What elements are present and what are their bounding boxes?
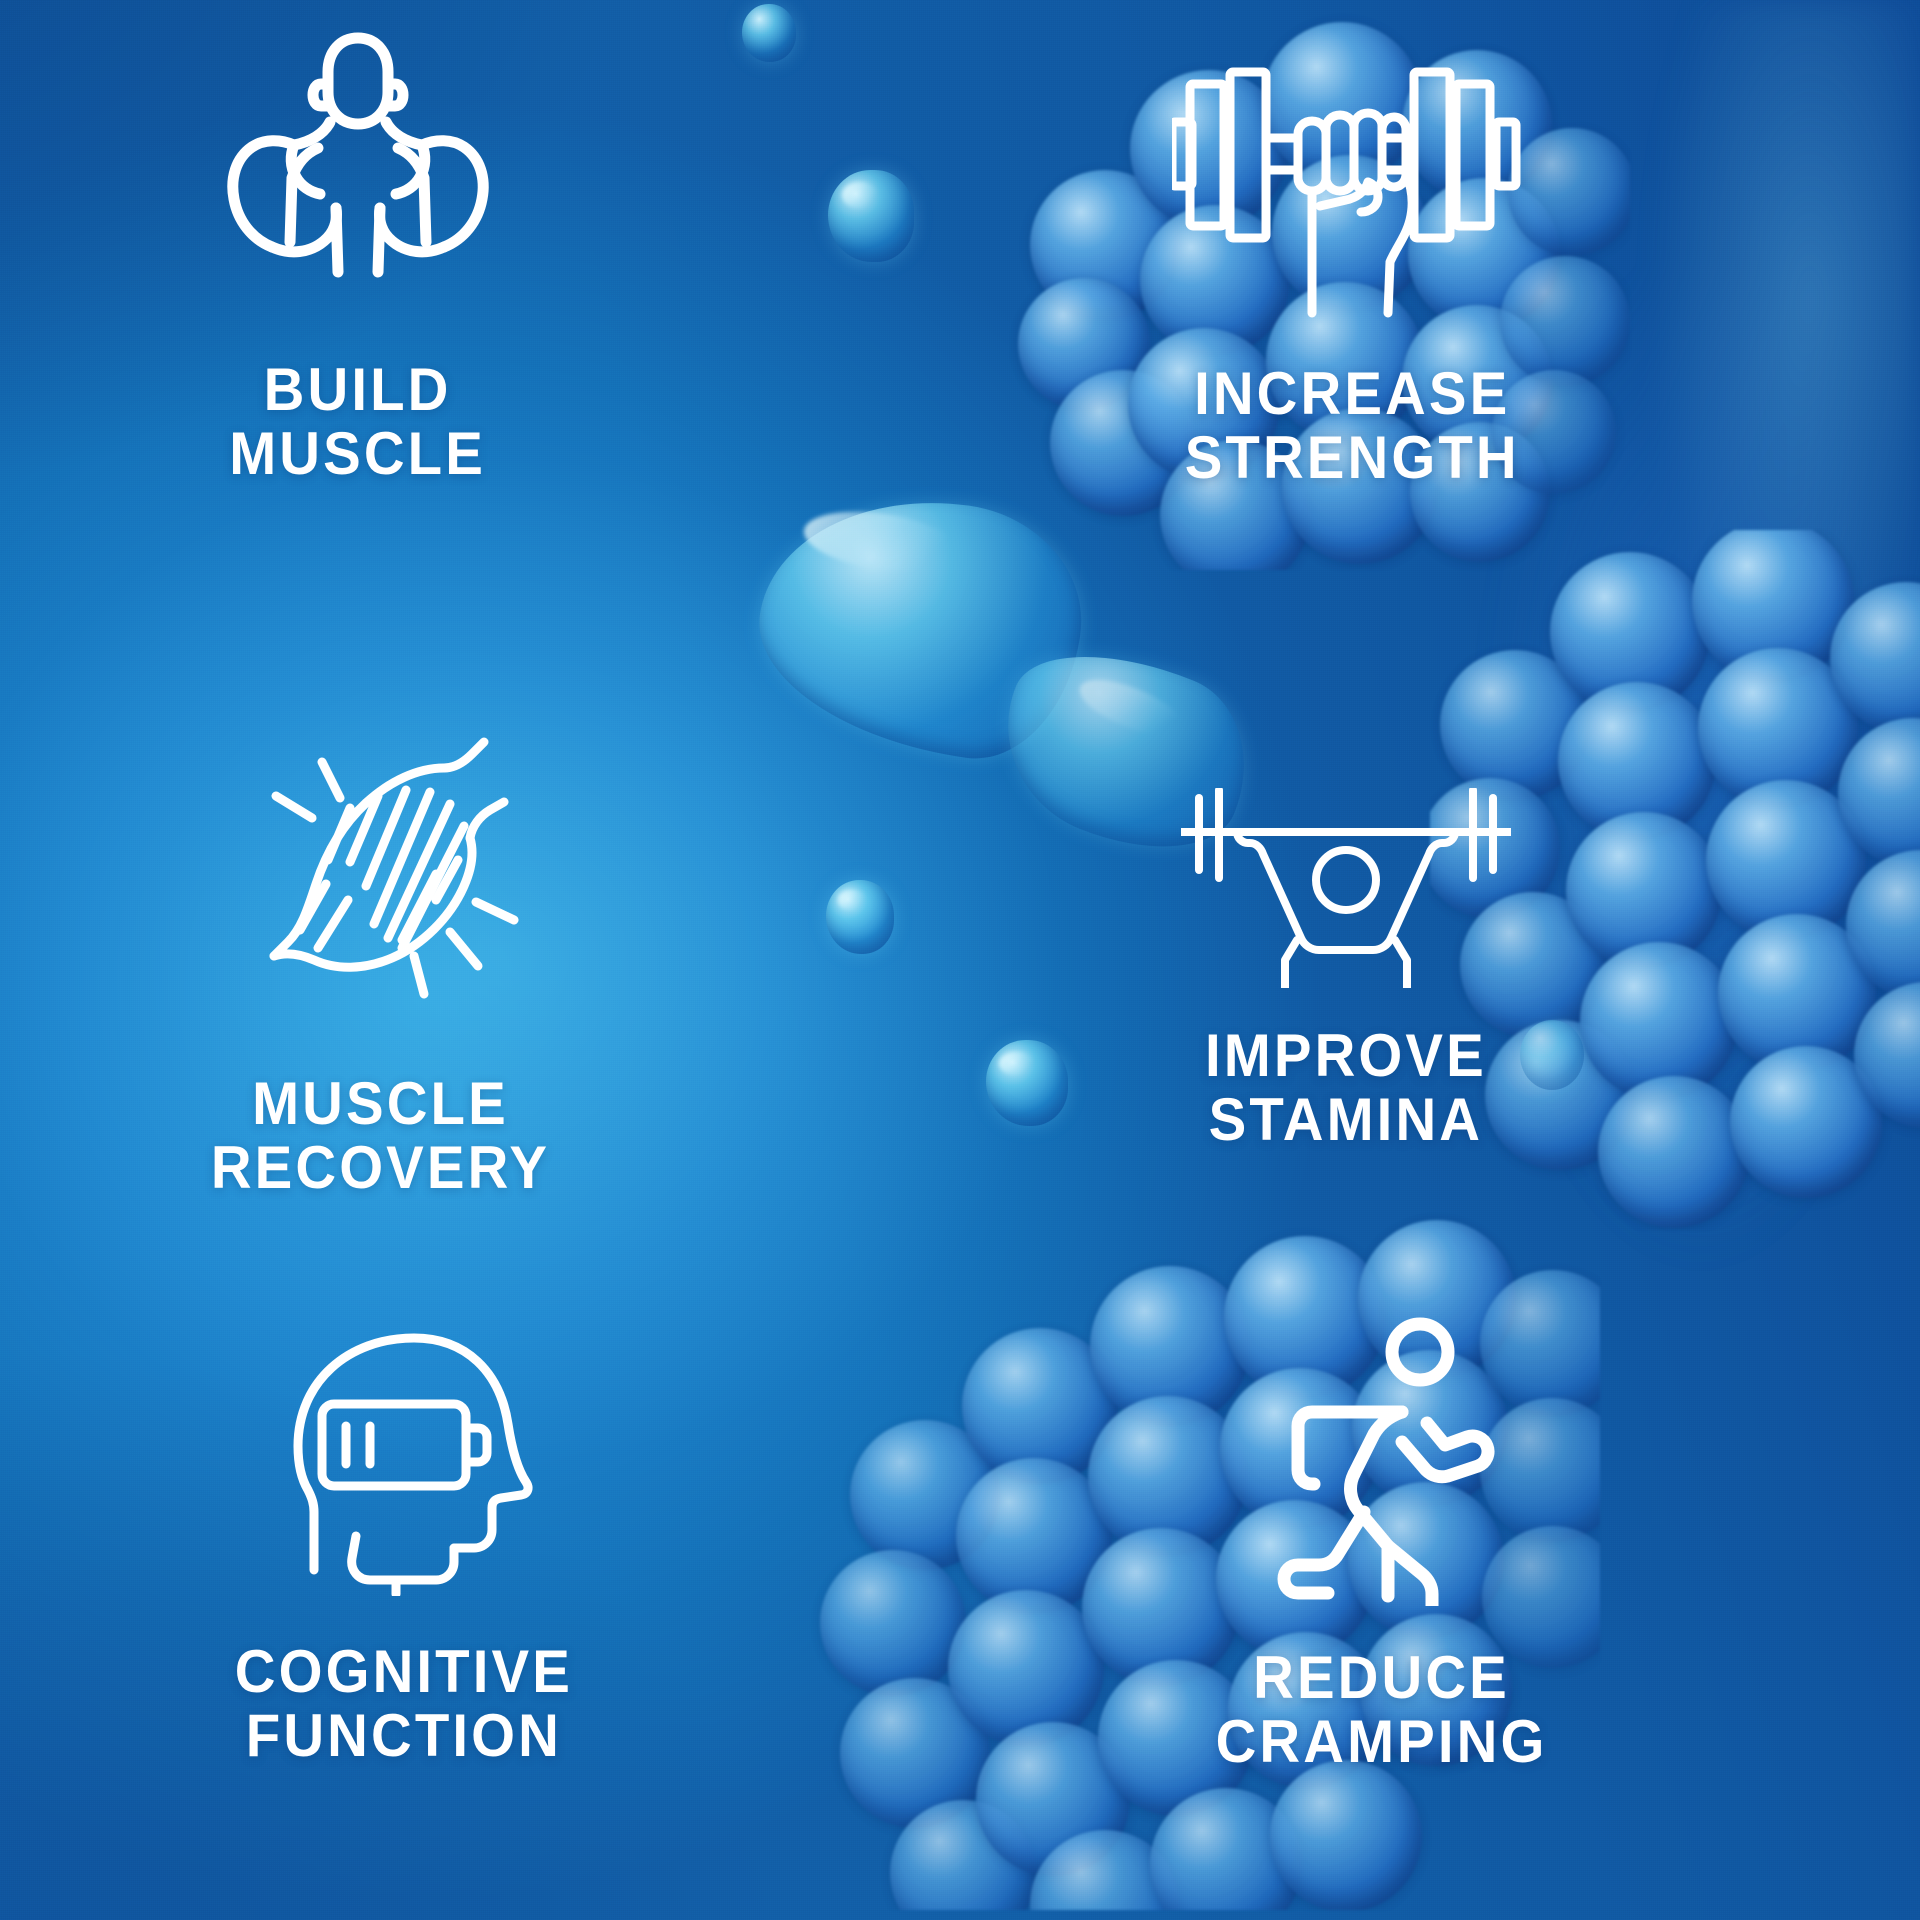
weightlifter-barbell-icon xyxy=(1181,788,1511,988)
running-person-icon xyxy=(1252,1316,1512,1606)
benefit-label-increase-strength: INCREASE STRENGTH xyxy=(1184,362,1519,490)
benefit-label-improve-stamina: IMPROVE STAMINA xyxy=(1205,1024,1487,1152)
muscle-fiber-icon xyxy=(230,734,530,1014)
benefits-grid: BUILD MUSCLE xyxy=(0,0,1920,1920)
benefit-label-cognitive-function: COGNITIVE FUNCTION xyxy=(235,1640,573,1768)
benefit-cell-muscle-recovery: MUSCLE RECOVERY xyxy=(0,640,960,1280)
benefit-label-reduce-cramping: REDUCE CRAMPING xyxy=(1216,1646,1548,1774)
head-battery-icon xyxy=(274,1326,534,1596)
benefit-label-muscle-recovery: MUSCLE RECOVERY xyxy=(210,1072,549,1200)
benefit-cell-cognitive-function: COGNITIVE FUNCTION xyxy=(0,1280,960,1920)
benefit-cell-improve-stamina: IMPROVE STAMINA xyxy=(960,640,1920,1280)
benefits-poster: BUILD MUSCLE xyxy=(0,0,1920,1920)
hand-holding-dumbbell-icon xyxy=(1172,50,1532,320)
benefit-cell-increase-strength: INCREASE STRENGTH xyxy=(960,0,1920,640)
benefit-label-build-muscle: BUILD MUSCLE xyxy=(230,358,487,486)
flexing-muscle-man-icon xyxy=(178,22,538,312)
benefit-cell-reduce-cramping: REDUCE CRAMPING xyxy=(960,1280,1920,1920)
benefit-cell-build-muscle: BUILD MUSCLE xyxy=(0,0,960,640)
